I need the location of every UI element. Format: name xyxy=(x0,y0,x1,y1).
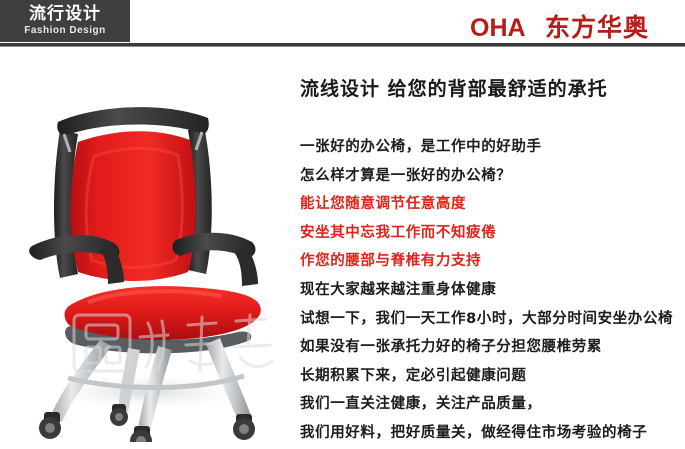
header-divider xyxy=(0,43,685,47)
product-photo xyxy=(8,60,283,442)
copy-line: 怎么样才算是一张好的办公椅？ xyxy=(300,162,680,191)
advertisement-page: 流行设计 Fashion Design OHA 东方华奥 xyxy=(0,0,685,449)
copy-line: 如果没有一张承托力好的椅子分担您腰椎劳累 xyxy=(300,333,680,362)
copy-line: 现在大家越来越注重身体健康 xyxy=(300,276,680,305)
brand-chinese-text: 东方华奥 xyxy=(545,13,649,42)
fashion-design-logo: 流行设计 Fashion Design xyxy=(0,0,130,42)
brand-latin-text: OHA xyxy=(470,14,526,42)
office-chair-illustration xyxy=(8,60,283,442)
seat-cushion xyxy=(65,286,261,340)
caster-front-left xyxy=(39,412,61,439)
caster-rear-left xyxy=(110,404,128,426)
body-copy: 一张好的办公椅，是工作中的好助手 怎么样才算是一张好的办公椅？ 能让您随意调节任… xyxy=(300,133,680,449)
caster-rear-right xyxy=(233,414,255,440)
copy-line: 我们用好料，把好质量关，做经得住市场考验的椅子 xyxy=(300,419,680,448)
copy-line: 我们一直关注健康，关注产品质量， xyxy=(300,390,680,419)
caster-front-right xyxy=(130,426,152,442)
copy-line: 作您的腰部与脊椎有力支持 xyxy=(300,247,680,276)
logo-chinese-text: 流行设计 xyxy=(29,5,101,23)
copy-line: 能让您随意调节任意高度 xyxy=(300,190,680,219)
copy-line: 试想一下，我们一天工作8小时，大部分时间安坐办公椅 xyxy=(300,305,680,334)
logo-english-text: Fashion Design xyxy=(24,25,105,37)
copy-line: 一张好的办公椅，是工作中的好助手 xyxy=(300,133,680,162)
copy-line: 长期积累下来，定必引起健康问题 xyxy=(300,362,680,391)
page-headline: 流线设计 给您的背部最舒适的承托 xyxy=(300,74,608,101)
brand-title: OHA 东方华奥 xyxy=(470,8,649,44)
copy-line: 安坐其中忘我工作而不知疲倦 xyxy=(300,219,680,248)
